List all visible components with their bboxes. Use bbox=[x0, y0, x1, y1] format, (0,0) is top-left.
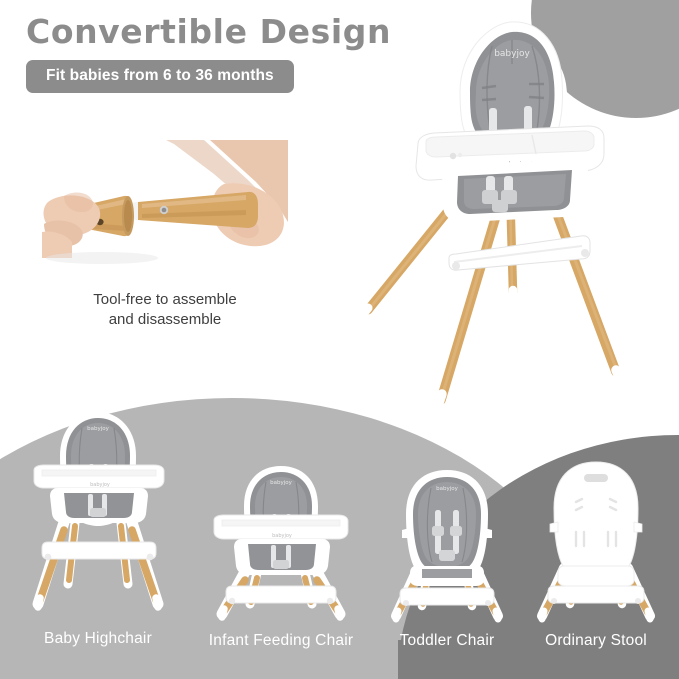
variant-infant-feeding-chair-tray-brand: babyjoy bbox=[272, 533, 292, 539]
variant-baby-highchair-label: Baby Highchair bbox=[8, 630, 188, 648]
variant-toddler-chair: babyjoy Toddler Chair bbox=[372, 466, 522, 648]
variant-ordinary-stool-label: Ordinary Stool bbox=[518, 632, 674, 650]
variant-toddler-chair-brand-text: babyjoy bbox=[436, 486, 459, 492]
hero-seat-brand-text: babyjoy bbox=[494, 49, 530, 59]
variant-baby-highchair-image: babyjoy babyjoy bbox=[8, 408, 188, 626]
variant-baby-highchair: babyjoy babyjoy Baby Highch bbox=[8, 408, 188, 648]
assembly-caption: Tool-free to assemble and disassemble bbox=[20, 290, 310, 330]
variant-infant-feeding-chair-brand-text: babyjoy bbox=[270, 480, 293, 486]
variant-infant-feeding-chair-label: Infant Feeding Chair bbox=[190, 632, 372, 650]
variant-baby-highchair-tray-brand: babyjoy bbox=[90, 482, 110, 488]
variant-infant-feeding-chair: babyjoy babyjoy Infant Feed bbox=[190, 462, 372, 648]
variant-infant-feeding-chair-image: babyjoy babyjoy bbox=[190, 462, 372, 628]
tool-free-assembly-photo bbox=[42, 140, 288, 280]
variant-toddler-chair-image: babyjoy bbox=[372, 466, 522, 628]
infographic-page: Convertible Design Fit babies from 6 to … bbox=[0, 0, 679, 679]
hero-product-image-highchair: babyjoy babyjoy bbox=[346, 4, 662, 418]
variant-ordinary-stool: Ordinary Stool bbox=[518, 458, 674, 648]
variant-ordinary-stool-image bbox=[518, 458, 674, 628]
assembly-caption-line-1: Tool-free to assemble bbox=[20, 290, 310, 310]
variant-toddler-chair-label: Toddler Chair bbox=[372, 632, 522, 650]
variant-baby-highchair-brand-text: babyjoy bbox=[87, 426, 110, 432]
age-range-badge: Fit babies from 6 to 36 months bbox=[26, 60, 294, 93]
assembly-caption-line-2: and disassemble bbox=[20, 310, 310, 330]
